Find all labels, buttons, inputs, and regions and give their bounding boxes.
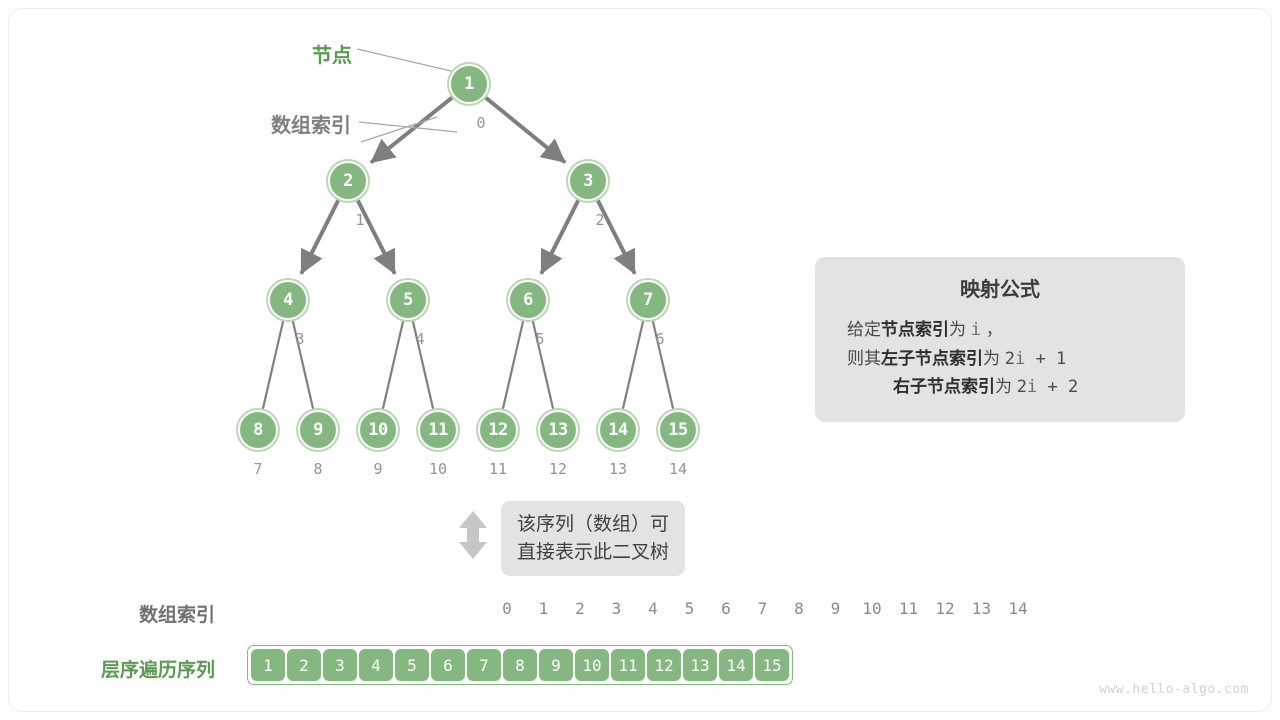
tree-edge [302,201,338,273]
tree-node-index: 8 [298,460,338,478]
double-arrow-icon [455,509,491,561]
tree-node-index: 11 [478,460,518,478]
array-index-cell: 8 [780,599,818,618]
array-value-cell: 2 [287,649,321,681]
array-value-cell: 4 [359,649,393,681]
array-value-cell: 9 [539,649,573,681]
formula-l3-var: i [1027,377,1037,397]
formula-l2-mid: 为 [983,349,1000,368]
tree-node: 1 [449,64,489,104]
tree-node-index: 6 [640,330,680,348]
formula-l3-mid: 为 [995,377,1012,396]
tree-node-index: 3 [280,330,320,348]
tree-node-index: 0 [461,114,501,132]
array-value-cell: 8 [503,649,537,681]
formula-l2-coef: 2 [1005,349,1015,369]
tree-node: 8 [238,410,278,450]
array-value-cell: 6 [431,649,465,681]
tree-node: 13 [538,410,578,450]
array-index-cell: 4 [634,599,672,618]
array-value-cell: 15 [755,649,789,681]
array-index-cell: 6 [707,599,745,618]
array-index-cell: 13 [963,599,1001,618]
array-value-cell: 14 [719,649,753,681]
tree-node-index: 5 [520,330,560,348]
callout-line-2: 直接表示此二叉树 [517,539,669,567]
formula-line-3: 右子节点索引为 2i + 2 [833,373,1167,402]
array-index-cell: 5 [671,599,709,618]
array-index-cell: 12 [926,599,964,618]
tree-node-index: 2 [580,211,620,229]
diagram-canvas: 节点 数组索引 10213243546576879810911101211131… [8,8,1272,712]
array-index-cell: 7 [744,599,782,618]
tree-node: 3 [568,161,608,201]
array-value-cell: 10 [575,649,609,681]
levelorder-sequence-row-label: 层序遍历序列 [47,655,215,682]
formula-line-1: 给定节点索引为 i ， [833,316,1167,345]
tree-node: 14 [598,410,638,450]
tree-node-index: 13 [598,460,638,478]
mapping-formula-panel: 映射公式 给定节点索引为 i ， 则其左子节点索引为 2i + 1 右子节点索引… [815,257,1185,422]
tree-node: 6 [508,280,548,320]
tree-node: 15 [658,410,698,450]
tree-node: 4 [268,280,308,320]
array-value-cell: 7 [467,649,501,681]
tree-node-index: 10 [418,460,458,478]
formula-l3-offset: + 2 [1037,377,1078,397]
array-index-cell: 1 [525,599,563,618]
annotation-leader-lines [357,49,457,142]
array-value-cell: 11 [611,649,645,681]
formula-line-2: 则其左子节点索引为 2i + 1 [833,345,1167,374]
array-index-cell: 11 [890,599,928,618]
annotation-array-index-label: 数组索引 [271,109,351,138]
formula-l3-coef: 2 [1017,377,1027,397]
array-index-cell: 9 [817,599,855,618]
tree-node: 7 [628,280,668,320]
array-value-cell: 13 [683,649,717,681]
watermark: www.hello-algo.com [1099,682,1249,697]
formula-l2-bold: 左子节点索引 [881,349,983,368]
array-index-cell: 0 [488,599,526,618]
tree-node: 10 [358,410,398,450]
formula-l2-pre: 则其 [847,349,881,368]
array-index-row-label: 数组索引 [47,600,215,627]
tree-node-index: 7 [238,460,278,478]
tree-node-index: 4 [400,330,440,348]
tree-node: 2 [328,161,368,201]
tree-node: 11 [418,410,458,450]
array-value-cell: 1 [251,649,285,681]
array-value-cell: 3 [323,649,357,681]
formula-l1-bold: 节点索引 [881,320,949,339]
tree-node-index: 9 [358,460,398,478]
array-index-cell: 10 [853,599,891,618]
tree-node: 5 [388,280,428,320]
tree-node: 12 [478,410,518,450]
array-index-cell: 3 [598,599,636,618]
callout-line-1: 该序列（数组）可 [517,511,669,539]
formula-l1-mid: 为 [949,320,966,339]
tree-node-index: 1 [340,211,380,229]
array-value-cell: 12 [647,649,681,681]
sequence-callout-box: 该序列（数组）可 直接表示此二叉树 [501,501,685,576]
formula-l1-post: ， [986,320,1003,339]
tree-node-index: 14 [658,460,698,478]
tree-edge [542,201,578,273]
formula-l3-bold: 右子节点索引 [893,377,995,396]
annotation-node-label: 节点 [312,39,352,68]
tree-node: 9 [298,410,338,450]
tree-edge-group [263,98,673,409]
formula-l1-var: i [971,320,981,340]
formula-l1-pre: 给定 [847,320,881,339]
formula-l2-offset: + 1 [1025,349,1066,369]
formula-title: 映射公式 [833,273,1167,302]
levelorder-array: 123456789101112131415 [247,645,793,685]
array-index-cell: 2 [561,599,599,618]
array-value-cell: 5 [395,649,429,681]
array-index-cell: 14 [999,599,1037,618]
formula-l2-var: i [1015,349,1025,369]
tree-node-index: 12 [538,460,578,478]
